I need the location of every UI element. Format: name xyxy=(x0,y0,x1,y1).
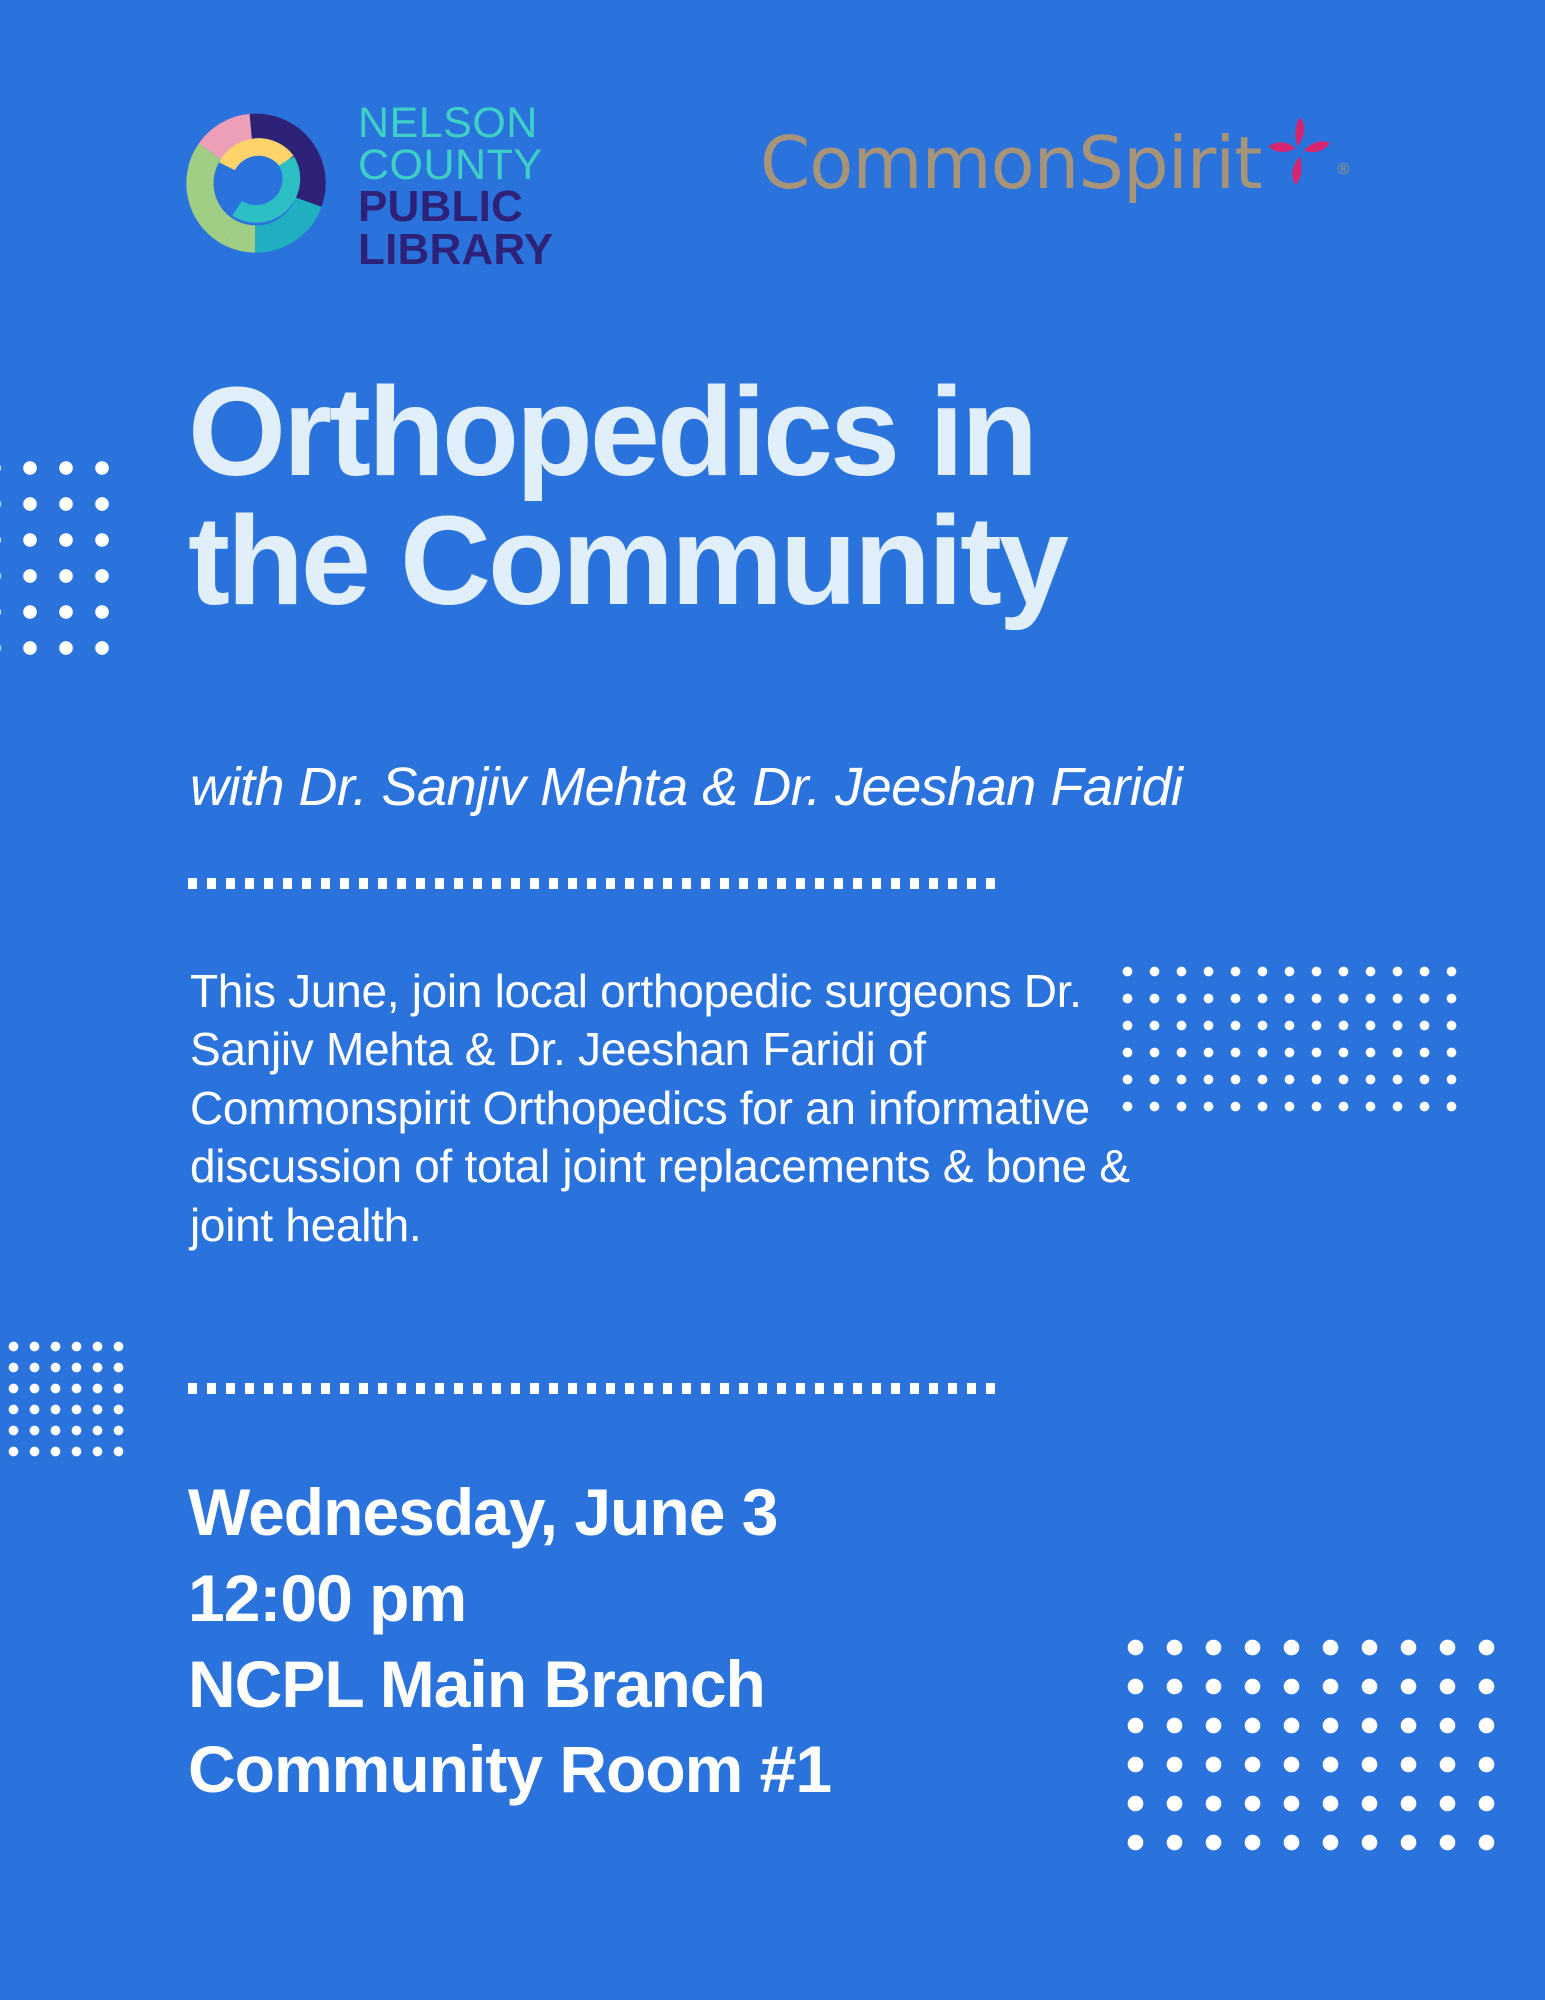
library-word-nelson: NELSON xyxy=(358,103,553,145)
commonspirit-flourish-icon xyxy=(1256,111,1336,191)
page-title: Orthopedics in the Community xyxy=(188,368,1388,625)
library-logo: NELSON COUNTY PUBLIC LIBRARY xyxy=(180,95,553,272)
commonspirit-wordmark: CommonSpirit xyxy=(760,127,1262,199)
dot-grid-left-lower xyxy=(0,1336,129,1462)
library-word-public: PUBLIC xyxy=(358,186,553,229)
event-location: NCPL Main Branch xyxy=(188,1642,1208,1728)
event-date: Wednesday, June 3 xyxy=(188,1470,1208,1556)
dot-grid-left-upper xyxy=(0,450,120,666)
event-room: Community Room #1 xyxy=(188,1727,1208,1813)
presenters-subtitle: with Dr. Sanjiv Mehta & Dr. Jeeshan Fari… xyxy=(190,756,1390,818)
library-word-library: LIBRARY xyxy=(358,229,553,272)
page-title-line-1: Orthopedics in xyxy=(188,368,1388,497)
description-paragraph: This June, join local orthopedic surgeon… xyxy=(190,962,1150,1254)
dashed-divider-top xyxy=(188,878,1000,889)
event-time: 12:00 pm xyxy=(188,1556,1208,1642)
page-title-line-2: the Community xyxy=(188,497,1388,626)
library-circle-mark-icon xyxy=(180,98,340,268)
event-details: Wednesday, June 3 12:00 pm NCPL Main Bra… xyxy=(188,1470,1208,1813)
dashed-divider-bottom xyxy=(188,1383,1000,1394)
library-wordmark: NELSON COUNTY PUBLIC LIBRARY xyxy=(358,95,553,272)
library-word-county: COUNTY xyxy=(358,145,553,187)
logo-header: NELSON COUNTY PUBLIC LIBRARY CommonSpiri… xyxy=(180,95,1380,295)
commonspirit-logo: CommonSpirit ® xyxy=(760,127,1349,199)
commonspirit-registered-mark: ® xyxy=(1338,161,1350,179)
dot-grid-right-upper xyxy=(1114,958,1465,1120)
poster-canvas: NELSON COUNTY PUBLIC LIBRARY CommonSpiri… xyxy=(0,0,1545,2000)
